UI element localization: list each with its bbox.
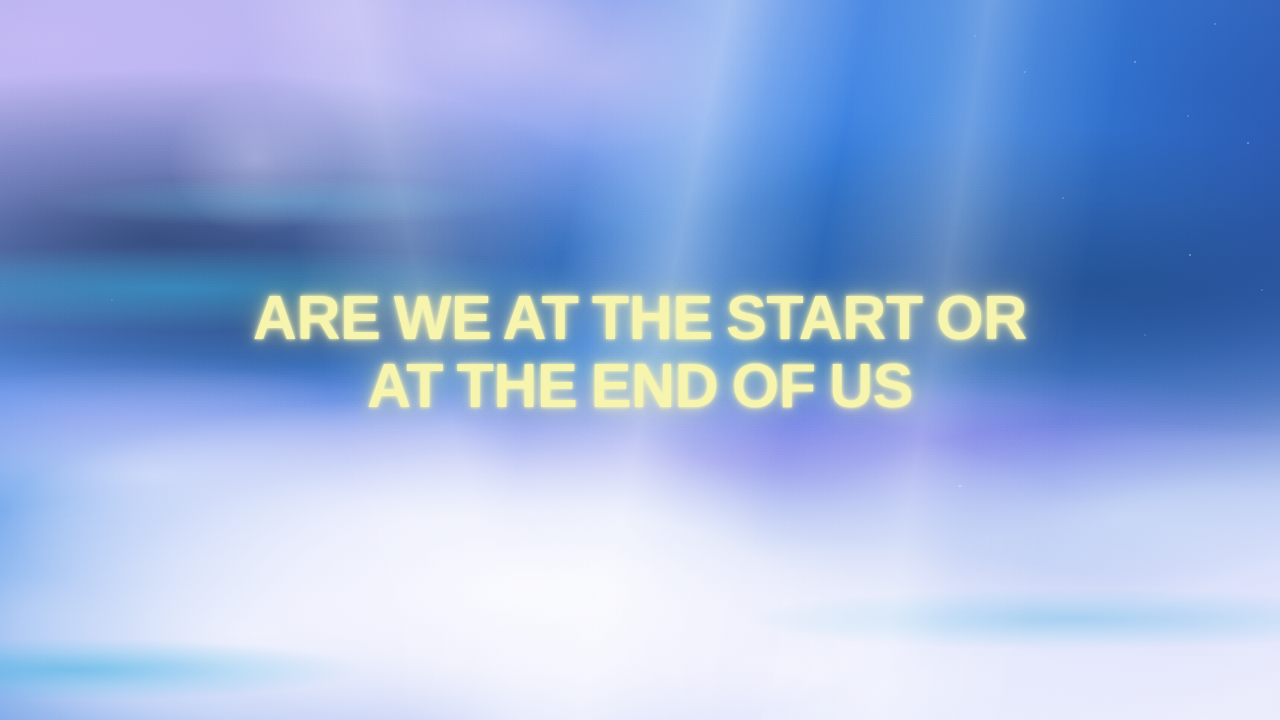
- lyric-video-frame: ARE WE AT THE START OR AT THE END OF US: [0, 0, 1280, 720]
- lyric-line-1: ARE WE AT THE START OR: [253, 286, 1027, 352]
- lyric-line-2: AT THE END OF US: [367, 354, 913, 420]
- lyric-text-block: ARE WE AT THE START OR AT THE END OF US: [0, 0, 1280, 720]
